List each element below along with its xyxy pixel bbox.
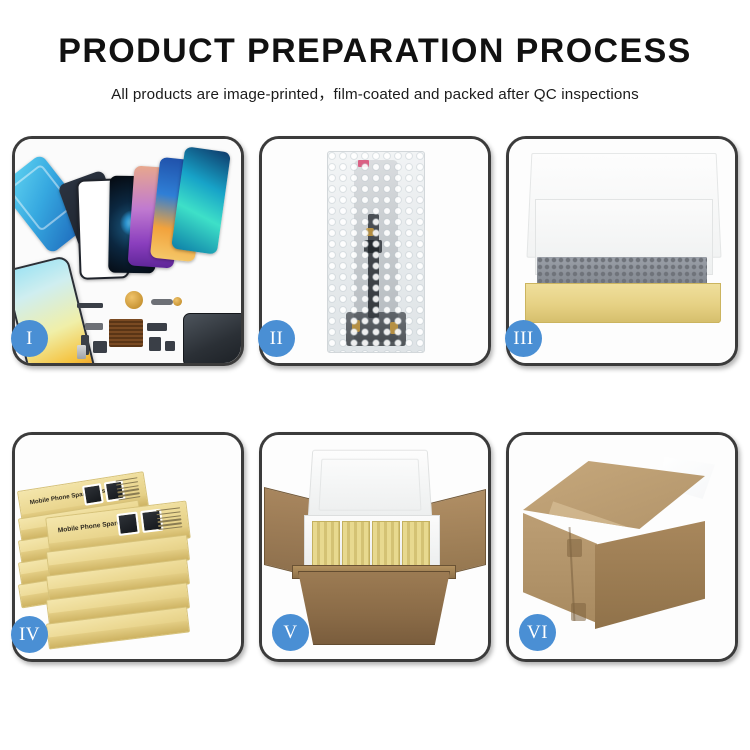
flex-cable-part-1 [151,299,173,305]
step-image-2 [262,139,488,363]
box-body [525,257,719,323]
step-image-3 [509,139,735,363]
packed-box [402,521,430,569]
step-badge-1: I [11,320,48,357]
step-panel-4[interactable]: Mobile Phone Spare Parts [12,432,244,662]
step-panel-3[interactable]: III [506,136,738,366]
box-spec-lines [156,507,183,532]
bubble-wrap-bag [327,151,425,353]
step-panel-1[interactable]: I [12,136,244,366]
step-image-4: Mobile Phone Spare Parts [15,435,241,659]
step-badge-5: V [272,614,309,651]
step-badge-6: VI [519,614,556,651]
step-badge-4: IV [11,616,48,653]
page-subtitle: All products are image-printed，film-coat… [0,82,750,104]
phone-housing-part [183,313,241,363]
screw-part-1 [173,297,182,306]
step-panel-2[interactable]: II [259,136,491,366]
step-panel-5[interactable]: V [259,432,491,662]
carton-tab-lower [571,603,586,621]
spare-parts-group [77,289,241,363]
box-stack: Mobile Phone Spare Parts [19,455,237,651]
box-screen-image [116,512,140,536]
packed-box [342,521,370,569]
sensor-part [165,341,175,351]
carton-tab-upper [567,539,582,557]
packed-box [372,521,400,569]
step-badge-2: II [258,320,295,357]
carton-body [298,571,450,645]
bubble-texture [328,152,424,352]
page-title: PRODUCT PREPARATION PROCESS [0,34,750,70]
loudspeaker-part [149,337,161,351]
button-flex-part [147,323,167,331]
page-header: PRODUCT PREPARATION PROCESS All products… [0,0,750,104]
camera-module-part [93,341,107,353]
packed-boxes-row [312,521,430,569]
step-image-1 [15,139,241,363]
box-front-panel [525,283,721,323]
step-panel-6[interactable]: VI [506,432,738,662]
chip-grid-part [109,319,143,347]
process-steps-grid: I II [0,136,750,662]
flex-cable-part-2 [85,323,103,330]
vibration-motor-part [125,291,143,309]
styrofoam-lid [308,450,433,521]
sim-tray-part [77,345,86,359]
step-badge-3: III [505,320,542,357]
box-screen-image [82,483,104,506]
earpiece-speaker-part [77,303,103,308]
carton-right-face [595,521,705,629]
packed-box [312,521,340,569]
